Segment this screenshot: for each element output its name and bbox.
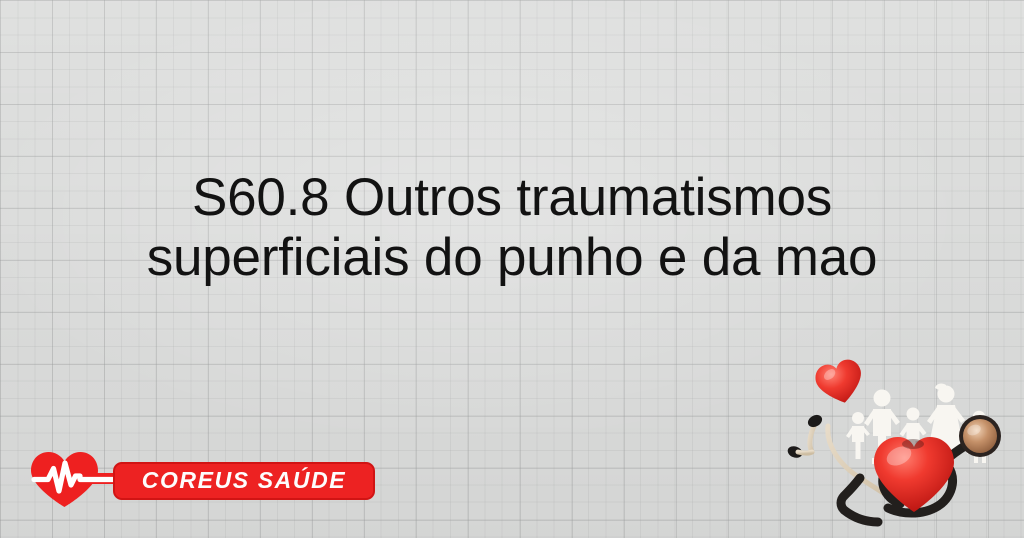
stethoscope-chestpiece-icon xyxy=(959,415,1001,457)
page-title-line-2: superficiais do punho e da mao xyxy=(40,228,984,288)
brand-name-badge[interactable]: COREUS SAÚDE xyxy=(113,462,375,500)
slide-canvas: S60.8 Outros traumatismos superficiais d… xyxy=(0,0,1024,538)
heart-pulse-icon xyxy=(28,450,120,508)
brand-logo[interactable]: COREUS SAÚDE xyxy=(28,448,350,510)
page-title: S60.8 Outros traumatismos superficiais d… xyxy=(0,168,1024,288)
medical-collage-image xyxy=(782,352,1024,538)
small-heart-icon xyxy=(813,357,868,408)
brand-name-label: COREUS SAÚDE xyxy=(142,469,347,493)
page-title-line-1: S60.8 Outros traumatismos xyxy=(40,168,984,228)
